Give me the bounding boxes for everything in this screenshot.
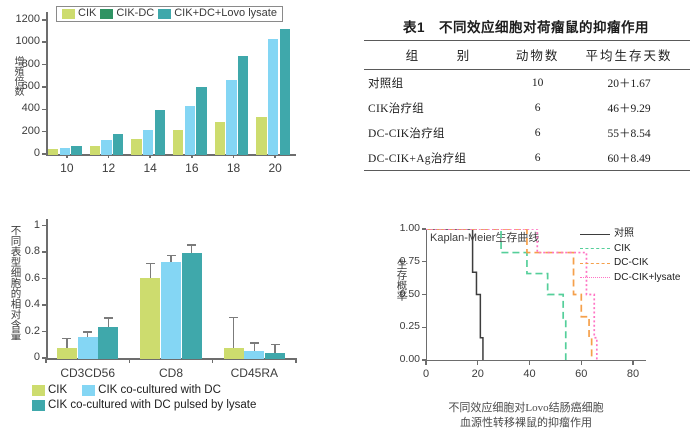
legend-swatch-cik (32, 385, 45, 396)
legend-label-cik: CIK (48, 383, 67, 398)
bar-CD45RA-1 (244, 351, 264, 359)
error-cap-CD8-1 (167, 255, 176, 256)
y-tick-label: 0.2 (4, 325, 40, 337)
table-row: DC-CIK治疗组655＋8.54 (364, 120, 690, 145)
bar-CD8-2 (182, 253, 202, 359)
bar-16-2 (196, 87, 207, 155)
inhibition-table-panel: 表1 不同效应细胞对荷瘤鼠的抑瘤作用 组 别 动物数 平均生存天数 对照组102… (352, 0, 700, 190)
error-cap-CD3CD56-0 (62, 338, 71, 339)
phenotype-legend: CIK CIK co-cultured with DC CIK co-cultu… (32, 383, 256, 413)
cell-animal-count: 6 (507, 120, 568, 145)
bar-18-2 (238, 56, 249, 155)
cell-mean-survival-days: 20＋1.67 (568, 70, 690, 96)
bar-CD8-0 (140, 278, 160, 359)
bar-16-0 (173, 130, 184, 155)
km-legend-label-1: CIK (614, 242, 631, 257)
x-tick-label: CD8 (128, 366, 214, 380)
km-legend: 对照CIKDC-CIKDC-CIK+lysate (580, 227, 680, 285)
proliferation-bar-chart: 增殖倍数 CIK CIK-DC CIK+DC+Lovo lysate 02004… (0, 0, 350, 200)
error-bar-CD8-1 (170, 256, 171, 262)
error-bar-CD8-0 (150, 264, 151, 278)
y-tick-label: 0 (4, 351, 40, 363)
y-tick-label: 0.4 (4, 298, 40, 310)
bar-10-0 (48, 149, 59, 155)
km-curve-0 (426, 229, 483, 360)
error-bar-CD3CD56-2 (108, 319, 109, 328)
y-tick-label: 0.00 (386, 353, 420, 365)
y-tick-label: 0.6 (4, 272, 40, 284)
bar-CD45RA-0 (224, 348, 244, 359)
bar-CD8-1 (161, 262, 181, 359)
phenotype-plot-area (46, 219, 296, 359)
error-cap-CD3CD56-2 (104, 317, 113, 318)
table-row: CIK治疗组646＋9.29 (364, 95, 690, 120)
phenotype-bar-chart: 不同表型细胞的相对含量 00.20.40.60.81 CD3CD56CD8CD4… (0, 205, 350, 437)
bar-10-2 (71, 146, 82, 155)
y-tick-label: 400 (4, 102, 40, 114)
bar-20-0 (256, 117, 267, 155)
y-tick-label: 600 (4, 80, 40, 92)
bar-CD3CD56-2 (98, 327, 118, 359)
table-header-animal-count: 动物数 (507, 41, 568, 70)
error-cap-CD45RA-0 (229, 317, 238, 318)
bar-20-1 (268, 39, 279, 155)
bar-12-1 (101, 140, 112, 155)
km-curve-3 (426, 229, 597, 360)
kaplan-meier-chart: Kaplan-Meier生存曲线 生存概率 0.000.250.500.751.… (352, 205, 700, 437)
x-tick-label: 14 (133, 161, 167, 175)
legend-label-cik-dc: CIK co-cultured with DC (98, 383, 221, 398)
bar-CD45RA-2 (265, 353, 285, 359)
cell-animal-count: 10 (507, 70, 568, 96)
error-bar-CD3CD56-1 (87, 333, 88, 338)
x-tick-label: 18 (217, 161, 251, 175)
table-row: DC-CIK+Ag治疗组660＋8.49 (364, 145, 690, 171)
x-tick-label: 40 (517, 368, 543, 380)
km-curve-1 (426, 229, 566, 360)
error-cap-CD8-0 (146, 263, 155, 264)
bar-16-1 (185, 106, 196, 155)
km-legend-line-0 (580, 234, 610, 235)
y-tick-label: 200 (4, 125, 40, 137)
y-tick-label: 1000 (4, 35, 40, 47)
cell-group: CIK治疗组 (364, 95, 507, 120)
bar-18-1 (226, 80, 237, 155)
y-tick-label: 1.00 (386, 222, 420, 234)
table-title: 表1 不同效应细胞对荷瘤鼠的抑瘤作用 (352, 16, 700, 36)
table-row: 对照组1020＋1.67 (364, 70, 690, 96)
km-legend-item-2: DC-CIK (580, 256, 680, 271)
error-bar-CD45RA-0 (233, 318, 234, 348)
cell-group: DC-CIK治疗组 (364, 120, 507, 145)
x-tick-label: CD45RA (211, 366, 297, 380)
bar-18-0 (215, 122, 226, 155)
bar-14-1 (143, 130, 154, 155)
cell-mean-survival-days: 55＋8.54 (568, 120, 690, 145)
bar-12-2 (113, 134, 124, 155)
y-tick-label: 0.50 (386, 288, 420, 300)
bar-CD3CD56-1 (78, 337, 98, 359)
table-header-group: 组 别 (364, 41, 507, 70)
km-legend-label-3: DC-CIK+lysate (614, 271, 680, 286)
x-tick-label: 80 (620, 368, 646, 380)
legend-label-cik-dc-lysate: CIK co-cultured with DC pulsed by lysate (48, 398, 256, 413)
error-cap-CD45RA-2 (271, 344, 280, 345)
table-header-row: 组 别 动物数 平均生存天数 (364, 41, 690, 70)
km-caption: 不同效应细胞对Lovo结肠癌细胞 血源性转移裸鼠的抑瘤作用 (352, 401, 700, 431)
inhibition-table: 组 别 动物数 平均生存天数 对照组1020＋1.67CIK治疗组646＋9.2… (364, 40, 690, 171)
error-bar-CD45RA-2 (274, 345, 275, 352)
km-caption-line-2: 血源性转移裸鼠的抑瘤作用 (352, 416, 700, 431)
km-legend-item-1: CIK (580, 242, 680, 257)
y-tick-label: 800 (4, 58, 40, 70)
km-legend-label-2: DC-CIK (614, 256, 648, 271)
km-curve-2 (426, 229, 592, 360)
legend-swatch-cik-dc (82, 385, 95, 396)
x-tick-label: 0 (413, 368, 439, 380)
phenotype-legend-row-2: CIK co-cultured with DC pulsed by lysate (32, 398, 256, 413)
bar-12-0 (90, 146, 101, 156)
error-cap-CD8-2 (187, 244, 196, 245)
cell-group: DC-CIK+Ag治疗组 (364, 145, 507, 171)
cell-mean-survival-days: 46＋9.29 (568, 95, 690, 120)
y-tick-label: 0.8 (4, 245, 40, 257)
table-header-mean-survival-days: 平均生存天数 (568, 41, 690, 70)
error-cap-CD3CD56-1 (83, 331, 92, 332)
error-bar-CD3CD56-0 (66, 339, 67, 348)
km-legend-item-3: DC-CIK+lysate (580, 271, 680, 286)
legend-swatch-cik-dc-lysate (32, 400, 45, 411)
bar-20-2 (280, 29, 291, 155)
y-tick-label: 0 (4, 147, 40, 159)
error-bar-CD8-2 (191, 246, 192, 253)
x-tick-label: 10 (50, 161, 84, 175)
cell-animal-count: 6 (507, 95, 568, 120)
proliferation-plot-area (46, 12, 296, 155)
y-tick-label: 1200 (4, 13, 40, 25)
km-caption-line-1: 不同效应细胞对Lovo结肠癌细胞 (352, 401, 700, 416)
km-legend-line-2 (580, 263, 610, 264)
x-tick-label: 16 (175, 161, 209, 175)
x-tick-label: 12 (92, 161, 126, 175)
cell-group: 对照组 (364, 70, 507, 96)
bar-10-1 (60, 148, 71, 155)
cell-animal-count: 6 (507, 145, 568, 171)
x-tick-label: 60 (568, 368, 594, 380)
x-tick-label: 20 (465, 368, 491, 380)
km-legend-label-0: 对照 (614, 227, 634, 242)
bar-CD3CD56-0 (57, 348, 77, 359)
km-legend-line-3 (580, 277, 610, 278)
y-tick-label: 0.75 (386, 255, 420, 267)
y-tick-label: 1 (4, 219, 40, 231)
bar-14-2 (155, 110, 166, 155)
x-tick-label: 20 (258, 161, 292, 175)
km-legend-line-1 (580, 248, 610, 249)
y-tick-label: 0.25 (386, 320, 420, 332)
cell-mean-survival-days: 60＋8.49 (568, 145, 690, 171)
bar-14-0 (131, 139, 142, 155)
km-legend-item-0: 对照 (580, 227, 680, 242)
error-bar-CD45RA-1 (254, 344, 255, 351)
error-cap-CD45RA-1 (250, 342, 259, 343)
x-tick-label: CD3CD56 (45, 366, 131, 380)
phenotype-legend-row-1: CIK CIK co-cultured with DC (32, 383, 256, 398)
